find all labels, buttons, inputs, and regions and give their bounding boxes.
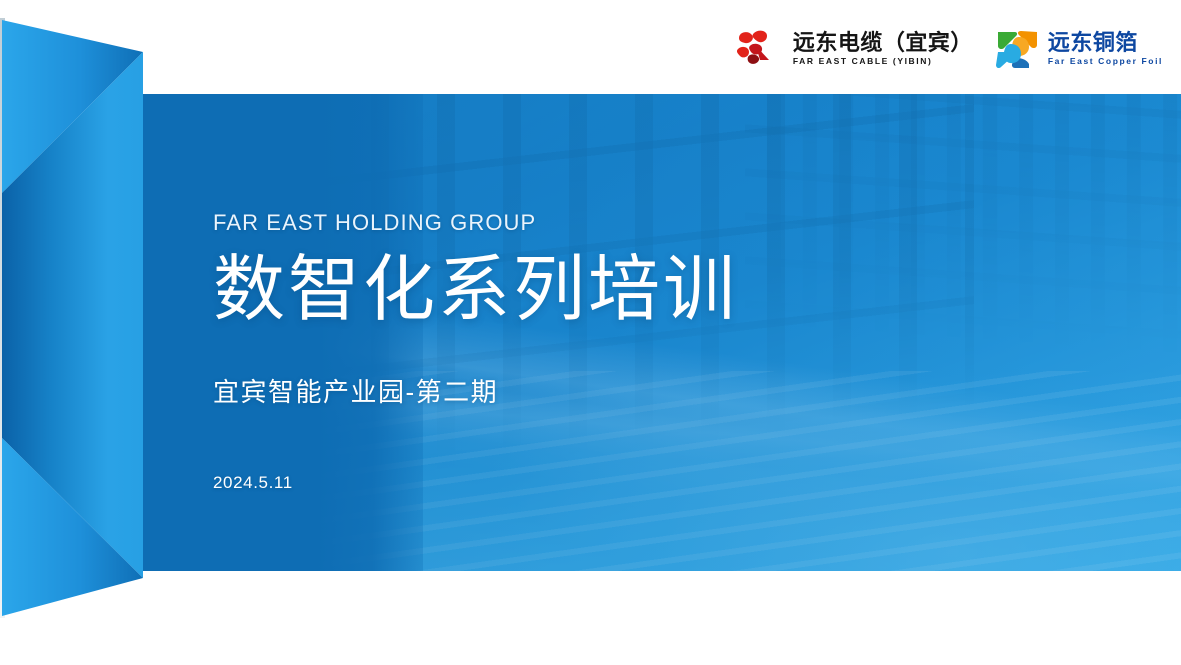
logo-far-east-cable-yibin: 远东电缆（宜宾） FAR EAST CABLE (YIBIN) [736,29,973,69]
folded-ribbon-decoration [0,18,150,618]
logo-far-east-copper-foil: 远东铜箔 Far East Copper Foil [995,28,1163,70]
logo-bar: 远东电缆（宜宾） FAR EAST CABLE (YIBIN) 远东铜箔 Far… [736,28,1163,70]
date-label: 2024.5.11 [213,409,738,493]
page-title: 数智化系列培训 [213,236,738,328]
logo-cable-cn: 远东电缆（宜宾） [793,32,973,54]
far-east-cable-wordmark: 远东电缆（宜宾） FAR EAST CABLE (YIBIN) [793,32,973,66]
logo-foil-cn: 远东铜箔 [1048,32,1163,54]
logo-cable-en: FAR EAST CABLE (YIBIN) [793,57,973,66]
far-east-cable-petals-icon [736,29,786,69]
far-east-copper-foil-pinwheel-icon [995,28,1041,70]
subtitle: 宜宾智能产业园-第二期 [213,328,738,409]
far-east-copper-foil-wordmark: 远东铜箔 Far East Copper Foil [1048,32,1163,66]
group-name-eyebrow: FAR EAST HOLDING GROUP [213,94,738,236]
cover-copy-block: FAR EAST HOLDING GROUP 数智化系列培训 宜宾智能产业园-第… [213,94,738,493]
cover-slide: FAR EAST HOLDING GROUP 数智化系列培训 宜宾智能产业园-第… [0,0,1181,665]
logo-foil-en: Far East Copper Foil [1048,57,1163,66]
